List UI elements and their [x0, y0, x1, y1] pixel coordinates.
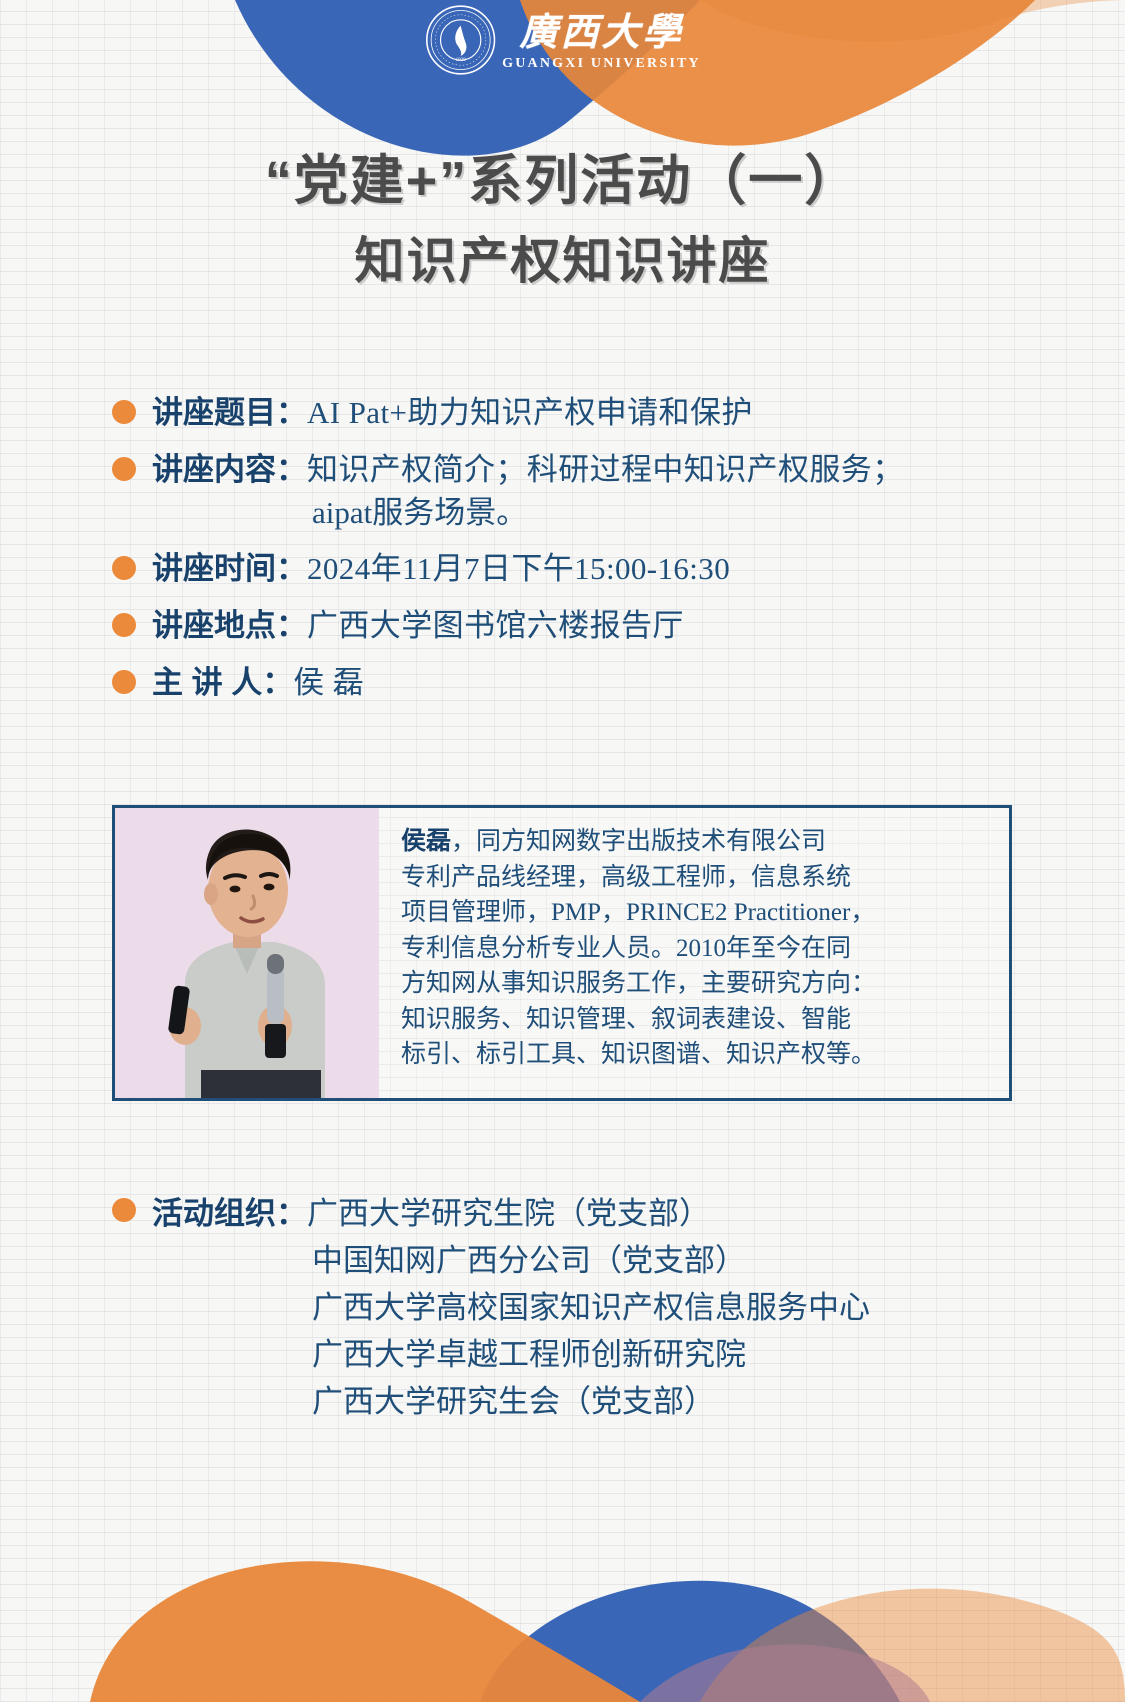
- university-seal-icon: 1928: [424, 4, 496, 76]
- organizer-item-4: 广西大学卓越工程师创新研究院: [152, 1331, 1042, 1378]
- organizer-item-1: 广西大学研究生院（党支部）: [307, 1196, 710, 1231]
- bio-speaker-name: 侯磊: [401, 827, 451, 855]
- organizer-row: 活动组织：广西大学研究生院（党支部） 中国知网广西分公司（党支部） 广西大学高校…: [112, 1190, 1042, 1426]
- info-row-time: 讲座时间：2024年11月7日下午15:00-16:30: [112, 548, 1042, 591]
- info-body-content: 讲座内容：知识产权简介；科研过程中知识产权服务； aipat服务场景。: [152, 449, 1042, 535]
- info-row-content: 讲座内容：知识产权简介；科研过程中知识产权服务； aipat服务场景。: [112, 449, 1042, 535]
- info-line-topic: 讲座题目：AI Pat+助力知识产权申请和保护: [152, 392, 1042, 435]
- info-label-place: 讲座地点：: [152, 608, 307, 643]
- info-row-speaker: 主 讲 人：侯 磊: [112, 662, 1042, 705]
- bullet-dot-icon: [112, 400, 136, 424]
- bullet-dot-icon: [112, 613, 136, 637]
- bio-line-4: 专利信息分析专业人员。2010年至今在同: [401, 931, 991, 967]
- bio-line-1: 侯磊，同方知网数字出版技术有限公司: [401, 824, 991, 860]
- info-label-time: 讲座时间：: [152, 551, 307, 586]
- info-label-content: 讲座内容：: [152, 452, 307, 487]
- info-value-speaker: 侯 磊: [293, 665, 364, 700]
- speaker-profile-card: 侯磊，同方知网数字出版技术有限公司 专利产品线经理，高级工程师，信息系统 项目管…: [112, 805, 1012, 1101]
- info-line-content-1: 讲座内容：知识产权简介；科研过程中知识产权服务；: [152, 449, 1042, 492]
- info-value-time: 2024年11月7日下午15:00-16:30: [307, 551, 730, 586]
- organizer-item-5: 广西大学研究生会（党支部）: [152, 1378, 1042, 1425]
- organizer-block: 活动组织：广西大学研究生院（党支部） 中国知网广西分公司（党支部） 广西大学高校…: [112, 1190, 1042, 1426]
- lecture-info-list: 讲座题目：AI Pat+助力知识产权申请和保护 讲座内容：知识产权简介；科研过程…: [112, 392, 1042, 719]
- info-row-topic: 讲座题目：AI Pat+助力知识产权申请和保护: [112, 392, 1042, 435]
- info-row-place: 讲座地点：广西大学图书馆六楼报告厅: [112, 605, 1042, 648]
- info-line-speaker: 主 讲 人：侯 磊: [152, 662, 1042, 705]
- svg-text:1928: 1928: [455, 57, 466, 63]
- info-value-place: 广西大学图书馆六楼报告厅: [307, 608, 684, 643]
- info-body-place: 讲座地点：广西大学图书馆六楼报告厅: [152, 605, 1042, 648]
- bio-line-3: 项目管理师，PMP，PRINCE2 Practitioner，: [401, 895, 991, 931]
- university-logo: 1928 廣西大學 GUANGXI UNIVERSITY: [424, 4, 701, 76]
- logo-wordmark: 廣西大學 GUANGXI UNIVERSITY: [502, 10, 701, 71]
- info-label-topic: 讲座题目：: [152, 395, 307, 430]
- bio-line-6: 知识服务、知识管理、叙词表建设、智能: [401, 1002, 991, 1038]
- organizer-label: 活动组织：: [152, 1196, 307, 1231]
- poster-root: 1928 廣西大學 GUANGXI UNIVERSITY “党建+”系列活动（一…: [0, 0, 1125, 1702]
- organizer-lines: 活动组织：广西大学研究生院（党支部） 中国知网广西分公司（党支部） 广西大学高校…: [152, 1190, 1042, 1426]
- logo-english-name: GUANGXI UNIVERSITY: [502, 57, 701, 71]
- bullet-dot-icon: [112, 1198, 136, 1222]
- bio-line-5: 方知网从事知识服务工作，主要研究方向：: [401, 966, 991, 1002]
- info-line-place: 讲座地点：广西大学图书馆六楼报告厅: [152, 605, 1042, 648]
- info-label-speaker: 主 讲 人：: [152, 665, 293, 700]
- info-value-content-line2: aipat服务场景。: [152, 492, 1042, 535]
- info-body-topic: 讲座题目：AI Pat+助力知识产权申请和保护: [152, 392, 1042, 435]
- poster-title-block: “党建+”系列活动（一） 知识产权知识讲座: [0, 148, 1125, 292]
- info-line-time: 讲座时间：2024年11月7日下午15:00-16:30: [152, 548, 1042, 591]
- bullet-dot-icon: [112, 457, 136, 481]
- bullet-dot-icon: [112, 556, 136, 580]
- poster-title-main: “党建+”系列活动（一）: [0, 148, 1125, 216]
- poster-title-sub: 知识产权知识讲座: [0, 230, 1125, 293]
- info-value-topic: AI Pat+助力知识产权申请和保护: [307, 395, 753, 430]
- speaker-bio: 侯磊，同方知网数字出版技术有限公司 专利产品线经理，高级工程师，信息系统 项目管…: [379, 808, 1009, 1098]
- organizer-line-1: 活动组织：广西大学研究生院（党支部）: [152, 1190, 1042, 1237]
- organizer-item-2: 中国知网广西分公司（党支部）: [152, 1237, 1042, 1284]
- bio-line-7: 标引、标引工具、知识图谱、知识产权等。: [401, 1037, 991, 1073]
- bottom-wave-decoration: [0, 1442, 1125, 1702]
- speaker-photo: [115, 808, 379, 1098]
- logo-chinese-name: 廣西大學: [519, 14, 683, 52]
- bullet-dot-icon: [112, 670, 136, 694]
- speaker-photo-illustration: [115, 808, 379, 1098]
- info-body-time: 讲座时间：2024年11月7日下午15:00-16:30: [152, 548, 1042, 591]
- organizer-item-3: 广西大学高校国家知识产权信息服务中心: [152, 1284, 1042, 1331]
- bio-line-1-rest: ，同方知网数字出版技术有限公司: [451, 828, 826, 855]
- info-value-content-line1: 知识产权简介；科研过程中知识产权服务；: [307, 452, 904, 487]
- bio-line-2: 专利产品线经理，高级工程师，信息系统: [401, 860, 991, 896]
- info-body-speaker: 主 讲 人：侯 磊: [152, 662, 1042, 705]
